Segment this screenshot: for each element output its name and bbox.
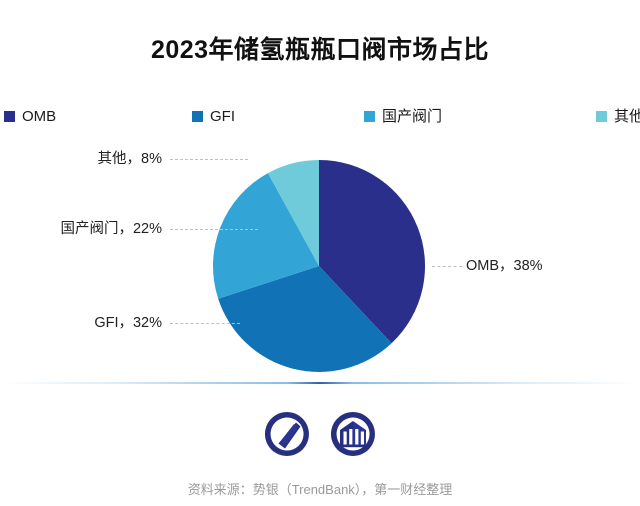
chart-legend: OMB GFI 国产阀门 其他	[0, 104, 640, 128]
legend-item-label: GFI	[210, 109, 235, 124]
square-swatch-icon	[4, 111, 15, 122]
square-swatch-icon	[596, 111, 607, 122]
leader-line-other	[170, 159, 248, 160]
trendbank-logo	[263, 410, 311, 458]
data-label-omb: OMB，38%	[466, 259, 586, 274]
legend-item-label: 国产阀门	[382, 109, 442, 124]
legend-item-other[interactable]: 其他	[596, 104, 640, 128]
legend-item-gfi[interactable]: GFI	[192, 104, 235, 128]
leader-line-omb	[432, 266, 462, 267]
data-label-other: 其他，8%	[66, 152, 162, 167]
yicai-logo	[329, 410, 377, 458]
section-divider	[0, 382, 640, 384]
legend-item-label: OMB	[22, 109, 56, 124]
leader-line-domestic-valve	[170, 229, 258, 230]
chart-title: 2023年储氢瓶瓶口阀市场占比	[0, 30, 640, 66]
chart-container: 2023年储氢瓶瓶口阀市场占比 OMB GFI 国产阀门 其他 其他，8% 国产…	[0, 0, 640, 506]
leader-line-gfi	[170, 323, 240, 324]
legend-item-label: 其他	[614, 109, 640, 124]
data-label-gfi: GFI，32%	[50, 316, 162, 331]
square-swatch-icon	[192, 111, 203, 122]
pie-chart	[213, 160, 425, 372]
footer-logos	[0, 406, 640, 462]
legend-item-domestic-valve[interactable]: 国产阀门	[364, 104, 442, 128]
source-text: 资料来源：势银（TrendBank），第一财经整理	[0, 479, 640, 498]
data-label-domestic-valve: 国产阀门，22%	[18, 222, 162, 237]
legend-item-omb[interactable]: OMB	[4, 104, 56, 128]
square-swatch-icon	[364, 111, 375, 122]
pie-svg	[213, 160, 425, 372]
